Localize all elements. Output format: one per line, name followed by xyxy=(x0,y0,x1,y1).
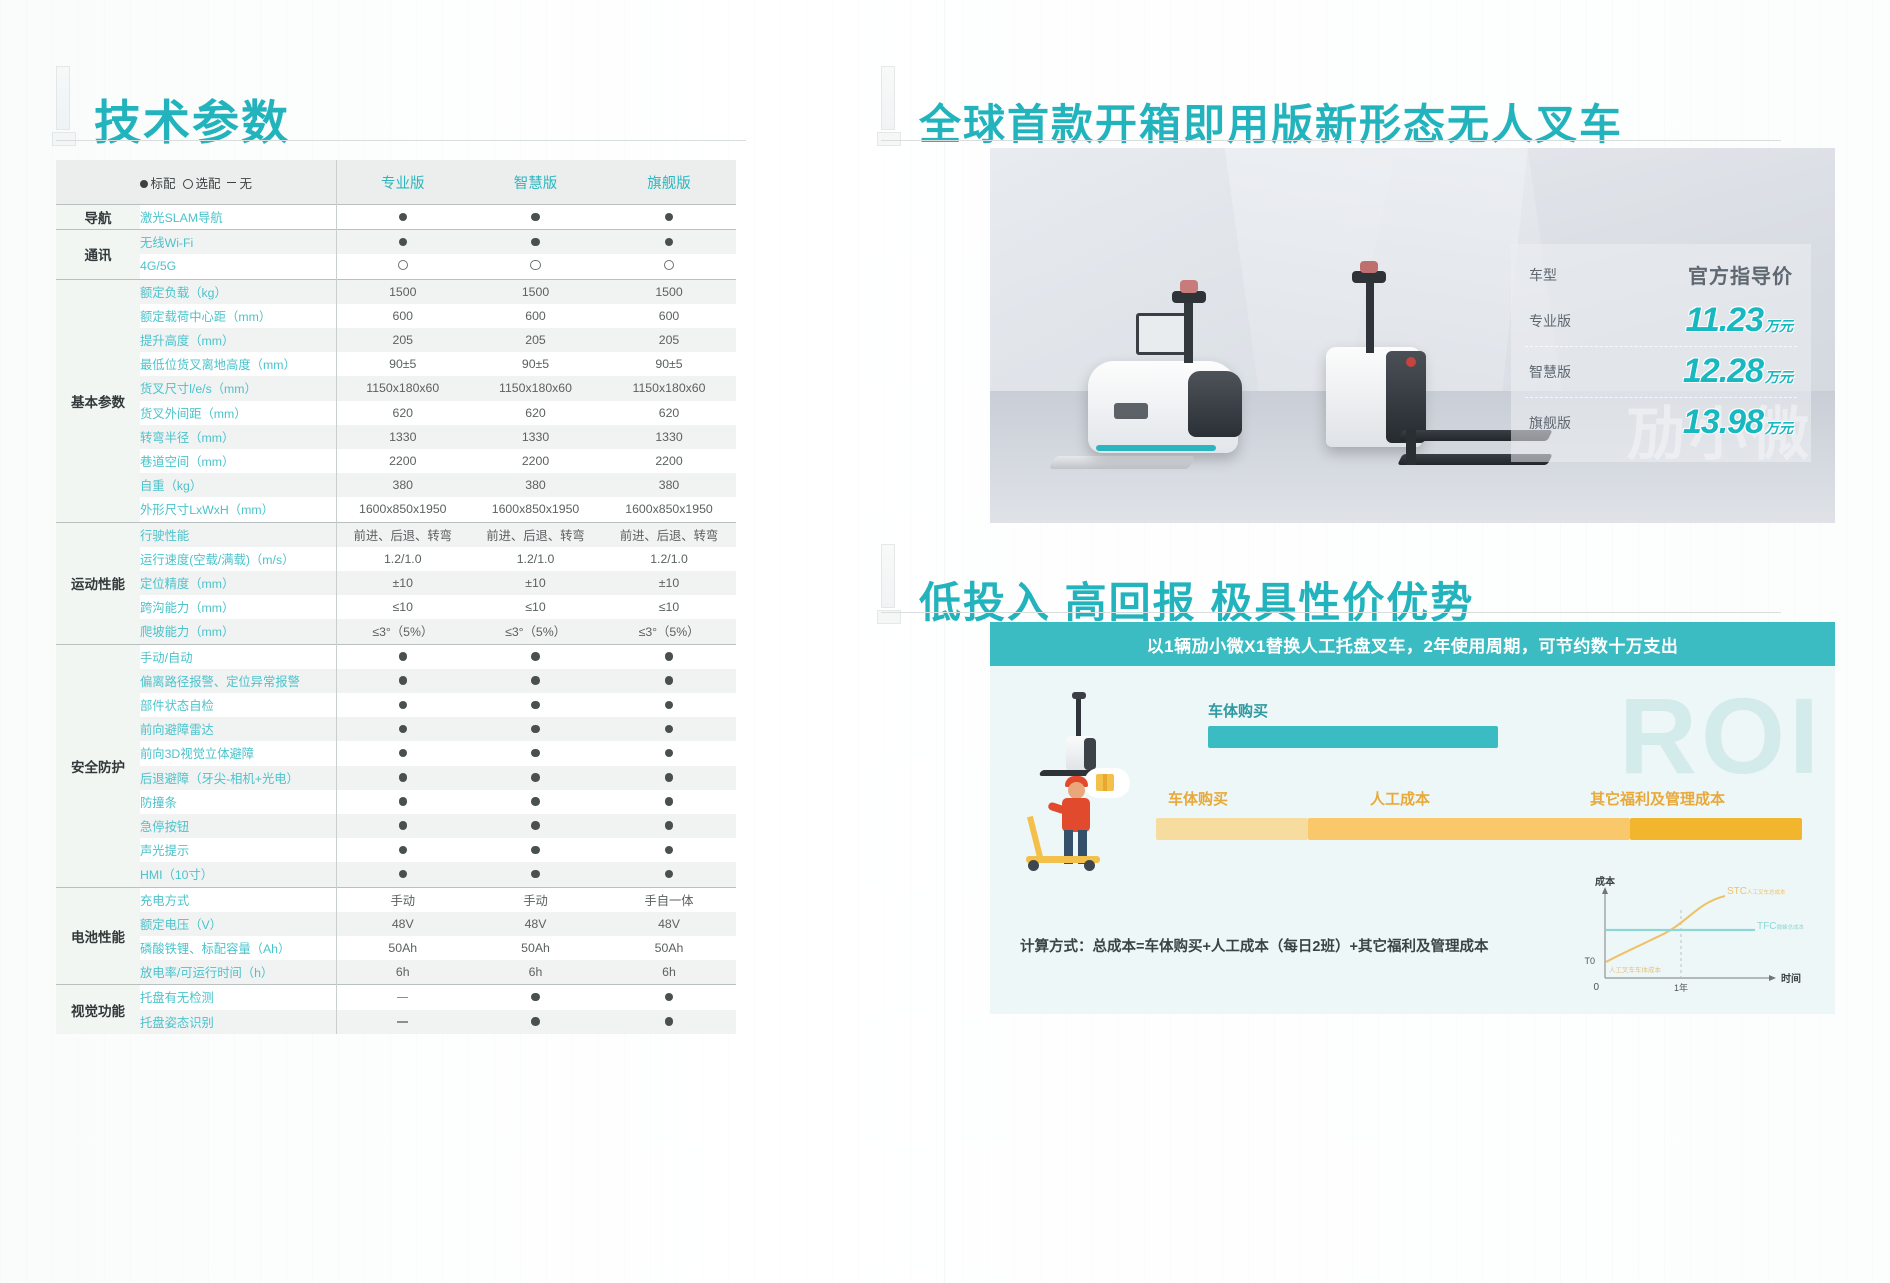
robot-mast xyxy=(1184,293,1193,363)
spec-label: 前向3D视觉立体避障 xyxy=(140,741,336,765)
spec-label: 货叉外间距（mm） xyxy=(140,401,336,425)
spec-value: 手动 xyxy=(336,887,469,912)
title-rule xyxy=(56,140,746,141)
spec-label: 手动/自动 xyxy=(140,644,336,669)
robot-cost-bar xyxy=(1208,726,1498,748)
spec-value: ≤3°（5%） xyxy=(602,619,736,644)
spec-value: ±10 xyxy=(469,571,602,595)
fork-crossbar xyxy=(1406,429,1416,465)
spec-value: 6h xyxy=(602,960,736,985)
table-row: 自重（kg）380380380 xyxy=(56,473,736,497)
robot-logo xyxy=(1114,403,1148,419)
spec-value: 1500 xyxy=(602,279,736,304)
table-row: 磷酸铁锂、标配容量（Ah）50Ah50Ah50Ah xyxy=(56,936,736,960)
spec-mark-standard xyxy=(469,1010,602,1034)
robot-mast xyxy=(1366,271,1374,353)
column-header-1: 专业版 xyxy=(336,160,469,205)
spec-value: 6h xyxy=(469,960,602,985)
spec-value: 1.2/1.0 xyxy=(602,547,736,571)
table-row: 视觉功能托盘有无检测 xyxy=(56,985,736,1010)
table-row: 外形尺寸LxWxH（mm）1600x850x19501600x850x19501… xyxy=(56,497,736,522)
spec-mark-standard xyxy=(336,669,469,693)
spec-value: 1.2/1.0 xyxy=(469,547,602,571)
table-row: 爬坡能力（mm）≤3°（5%）≤3°（5%）≤3°（5%） xyxy=(56,619,736,644)
forklift-deco-icon xyxy=(50,62,76,146)
spec-value: 1150x180x60 xyxy=(336,376,469,400)
price-amount: 11.23万元 xyxy=(1685,301,1793,340)
chart-y-axis-label: 成本 xyxy=(1595,875,1616,888)
spec-value: 1600x850x1950 xyxy=(336,497,469,522)
column-header-3: 旗舰版 xyxy=(602,160,736,205)
brochure-page: 技术参数 标配 选配 无专业版智慧版旗舰版导航激光SLAM导航通讯无线Wi-Fi… xyxy=(0,0,1890,1283)
spec-value: 90±5 xyxy=(336,352,469,376)
price-number: 12.28 xyxy=(1683,352,1763,390)
table-row: 跨沟能力（mm）≤10≤10≤10 xyxy=(56,595,736,619)
spec-label: 声光提示 xyxy=(140,838,336,862)
spec-label: 急停按钮 xyxy=(140,814,336,838)
table-row: 通讯无线Wi-Fi xyxy=(56,230,736,255)
spec-value: 1600x850x1950 xyxy=(602,497,736,522)
spec-mark-standard xyxy=(602,838,736,862)
chart-series-tfc-label: TFC微蜂总成本 xyxy=(1757,921,1804,932)
spec-label: 防撞条 xyxy=(140,790,336,814)
spec-value: 600 xyxy=(469,304,602,328)
spec-mark-standard xyxy=(602,230,736,255)
spec-label: 货叉尺寸l/e/s（mm） xyxy=(140,376,336,400)
robot-accent-stripe xyxy=(1096,445,1216,451)
legend-cell: 标配 选配 无 xyxy=(56,160,336,205)
table-row: 运动性能行驶性能前进、后退、转弯前进、后退、转弯前进、后退、转弯 xyxy=(56,522,736,547)
group-label-3: 基本参数 xyxy=(56,279,140,522)
roi-rule xyxy=(881,612,1781,613)
robot-beacon-icon xyxy=(1360,261,1378,273)
spec-label: 最低位货叉离地高度（mm） xyxy=(140,352,336,376)
table-row: 部件状态自检 xyxy=(56,693,736,717)
jack-wheel xyxy=(1028,860,1039,871)
table-row: 偏离路径报警、定位异常报警 xyxy=(56,669,736,693)
spec-mark-standard xyxy=(336,741,469,765)
spec-mark-optional xyxy=(469,254,602,279)
spec-value: 2200 xyxy=(469,449,602,473)
table-row: 导航激光SLAM导航 xyxy=(56,205,736,230)
roi-card: 以1辆劢小微X1替换人工托盘叉车，2年使用周期，可节约数十万支出 ROI 车体购… xyxy=(990,622,1835,1014)
spec-value: 1500 xyxy=(336,279,469,304)
spec-value: 90±5 xyxy=(469,352,602,376)
spec-value: 48V xyxy=(469,912,602,936)
spec-value: 50Ah xyxy=(602,936,736,960)
manual-cost-bar-0 xyxy=(1156,818,1308,840)
table-row: 4G/5G xyxy=(56,254,736,279)
spec-label: 巷道空间（mm） xyxy=(140,449,336,473)
jack-wheel xyxy=(1084,860,1095,871)
spec-label: 前向避障雷达 xyxy=(140,717,336,741)
spec-value: 600 xyxy=(602,304,736,328)
spec-value: 1150x180x60 xyxy=(469,376,602,400)
spec-label: 外形尺寸LxWxH（mm） xyxy=(140,497,336,522)
spec-value: 1330 xyxy=(469,425,602,449)
price-model: 智慧版 xyxy=(1529,362,1571,382)
table-row: 运行速度(空载/满载)（m/s）1.2/1.01.2/1.01.2/1.0 xyxy=(56,547,736,571)
spec-mark-none xyxy=(336,985,469,1010)
price-unit: 万元 xyxy=(1765,369,1793,385)
worker-head xyxy=(1068,782,1085,799)
price-amount: 12.28万元 xyxy=(1683,352,1793,391)
spec-label: 运行速度(空载/满载)（m/s） xyxy=(140,547,336,571)
table-row: 定位精度（mm）±10±10±10 xyxy=(56,571,736,595)
spec-value: 1330 xyxy=(336,425,469,449)
spec-mark-standard xyxy=(469,838,602,862)
group-label-7: 视觉功能 xyxy=(56,985,140,1034)
spec-label: 4G/5G xyxy=(140,254,336,279)
spec-value: 前进、后退、转弯 xyxy=(602,522,736,547)
spec-value: 600 xyxy=(336,304,469,328)
manual-bar-label-1: 人工成本 xyxy=(1370,788,1430,809)
table-row: 货叉外间距（mm）620620620 xyxy=(56,401,736,425)
spec-mark-standard xyxy=(602,790,736,814)
group-label-1: 导航 xyxy=(56,205,140,230)
left-panel: 技术参数 标配 选配 无专业版智慧版旗舰版导航激光SLAM导航通讯无线Wi-Fi… xyxy=(0,0,945,1283)
price-model-header: 车型 xyxy=(1529,265,1557,285)
spec-mark-standard xyxy=(469,693,602,717)
spec-value: 手自一体 xyxy=(602,887,736,912)
table-row: 货叉尺寸l/e/s（mm）1150x180x601150x180x601150x… xyxy=(56,376,736,400)
robot-dark-module xyxy=(1188,371,1242,437)
table-row: 电池性能充电方式手动手动手自一体 xyxy=(56,887,736,912)
spec-value: 48V xyxy=(336,912,469,936)
right-panel: 全球首款开箱即用版新形态无人叉车 xyxy=(945,0,1890,1283)
jack-handle xyxy=(1027,816,1043,858)
spec-value: 1600x850x1950 xyxy=(469,497,602,522)
spec-label: 充电方式 xyxy=(140,887,336,912)
robot-beacon-icon xyxy=(1180,280,1198,293)
robot-bar-label: 车体购买 xyxy=(1208,700,1268,721)
robot-indicator-icon xyxy=(1406,357,1416,367)
forklift-deco-icon xyxy=(875,62,901,146)
spec-value: 手动 xyxy=(469,887,602,912)
fork-shape xyxy=(1049,456,1196,469)
spec-value: 1.2/1.0 xyxy=(336,547,469,571)
chart-t0-label: T0 xyxy=(1584,956,1595,966)
table-row: 巷道空间（mm）220022002200 xyxy=(56,449,736,473)
table-row: 前向3D视觉立体避障 xyxy=(56,741,736,765)
spec-mark-standard xyxy=(602,741,736,765)
spec-label: 定位精度（mm） xyxy=(140,571,336,595)
spec-mark-standard xyxy=(336,790,469,814)
spec-value: 205 xyxy=(336,328,469,352)
spec-mark-standard xyxy=(602,766,736,790)
spec-value: 620 xyxy=(469,401,602,425)
spec-mark-standard xyxy=(336,814,469,838)
spec-label: 提升高度（mm） xyxy=(140,328,336,352)
price-row-1: 专业版11.23万元 xyxy=(1511,295,1811,346)
table-row: 急停按钮 xyxy=(56,814,736,838)
calculation-formula: 计算方式：总成本=车体购买+人工成本（每日2班）+其它福利及管理成本 xyxy=(1020,935,1488,956)
spec-mark-standard xyxy=(602,1010,736,1034)
spec-mark-standard xyxy=(602,644,736,669)
hero-rule xyxy=(881,140,1781,141)
spec-mark-standard xyxy=(602,814,736,838)
spec-label: 额定负载（kg） xyxy=(140,279,336,304)
spec-mark-standard xyxy=(336,717,469,741)
spec-mark-standard xyxy=(469,741,602,765)
robot-hmi-screen xyxy=(1136,313,1188,355)
column-header-2: 智慧版 xyxy=(469,160,602,205)
worker-illustration xyxy=(1030,770,1150,880)
price-model: 专业版 xyxy=(1529,311,1571,331)
price-card: 车型 官方指导价 专业版11.23万元智慧版12.28万元旗舰版13.98万元 xyxy=(1511,244,1811,462)
table-row: 基本参数额定负载（kg）150015001500 xyxy=(56,279,736,304)
spec-mark-standard xyxy=(336,693,469,717)
spec-value: 1500 xyxy=(469,279,602,304)
group-label-5: 安全防护 xyxy=(56,644,140,887)
spec-mark-standard xyxy=(336,838,469,862)
spec-mark-optional xyxy=(336,254,469,279)
spec-value: 50Ah xyxy=(469,936,602,960)
spec-label: 自重（kg） xyxy=(140,473,336,497)
spec-value: 205 xyxy=(469,328,602,352)
table-row: 最低位货叉离地高度（mm）90±590±590±5 xyxy=(56,352,736,376)
table-row: 额定载荷中心距（mm）600600600 xyxy=(56,304,736,328)
spec-label: 部件状态自检 xyxy=(140,693,336,717)
hero-product-photo: 劢小微 车型 官方指导价 专业版11.23万元智慧版12.28万元旗舰版13.9… xyxy=(990,148,1835,523)
robot-amr-illustration xyxy=(1080,281,1270,481)
table-row: 防撞条 xyxy=(56,790,736,814)
spec-mark-standard xyxy=(469,862,602,887)
spec-value: 2200 xyxy=(336,449,469,473)
chart-origin-label: 0 xyxy=(1593,982,1599,993)
chart-annotation: 人工叉车车体成本 xyxy=(1609,965,1662,974)
spec-label: 行驶性能 xyxy=(140,522,336,547)
spec-label: 激光SLAM导航 xyxy=(140,205,336,230)
table-row: 前向避障雷达 xyxy=(56,717,736,741)
table-row: 放电率/可运行时间（h）6h6h6h xyxy=(56,960,736,985)
spec-value: ≤10 xyxy=(336,595,469,619)
price-unit: 万元 xyxy=(1765,318,1793,334)
spec-mark-standard xyxy=(336,205,469,230)
price-row-3: 旗舰版13.98万元 xyxy=(1511,397,1811,448)
spec-mark-standard xyxy=(469,985,602,1010)
spec-label: 磷酸铁锂、标配容量（Ah） xyxy=(140,936,336,960)
spec-mark-standard xyxy=(602,717,736,741)
legend-filled-icon xyxy=(140,180,148,188)
spec-label: 托盘有无检测 xyxy=(140,985,336,1010)
spec-label: 偏离路径报警、定位异常报警 xyxy=(140,669,336,693)
roi-title: 低投入 高回报 极具性价优势 xyxy=(919,582,1474,624)
manual-bar-label-0: 车体购买 xyxy=(1168,788,1228,809)
spec-mark-standard xyxy=(469,717,602,741)
spec-mark-standard xyxy=(336,862,469,887)
package-icon xyxy=(1096,774,1114,791)
spec-value: 90±5 xyxy=(602,352,736,376)
spec-value: 1150x180x60 xyxy=(602,376,736,400)
spec-mark-standard xyxy=(336,766,469,790)
cost-over-time-chart: 成本 时间 T0 0 1年 STC人工叉车总成本 TFC微蜂总成本 人工叉车车体… xyxy=(1559,874,1811,1000)
price-amount: 13.98万元 xyxy=(1683,403,1793,442)
price-number: 13.98 xyxy=(1683,403,1763,441)
spec-value: 380 xyxy=(469,473,602,497)
legend-ring-icon xyxy=(183,179,193,189)
spec-value: ≤10 xyxy=(469,595,602,619)
spec-mark-standard xyxy=(469,669,602,693)
spec-label: 额定电压（V） xyxy=(140,912,336,936)
spec-value: ±10 xyxy=(336,571,469,595)
spec-value: 620 xyxy=(602,401,736,425)
spec-mark-standard xyxy=(336,644,469,669)
chart-x-axis-label: 时间 xyxy=(1781,972,1801,985)
roi-watermark: ROI xyxy=(1619,682,1823,790)
group-label-4: 运动性能 xyxy=(56,522,140,644)
spec-mark-standard xyxy=(602,205,736,230)
manual-cost-bar-1 xyxy=(1308,818,1630,840)
spec-label: 额定载荷中心距（mm） xyxy=(140,304,336,328)
price-header-row: 车型 官方指导价 xyxy=(1511,254,1811,295)
spec-mark-optional xyxy=(602,254,736,279)
spec-label: HMI（10寸） xyxy=(140,862,336,887)
table-row: 转弯半径（mm）133013301330 xyxy=(56,425,736,449)
table-row: HMI（10寸） xyxy=(56,862,736,887)
price-number: 11.23 xyxy=(1685,301,1763,339)
table-row: 提升高度（mm）205205205 xyxy=(56,328,736,352)
spec-mark-standard xyxy=(469,790,602,814)
spec-mark-standard xyxy=(602,985,736,1010)
spec-mark-standard xyxy=(469,205,602,230)
spec-mark-standard xyxy=(602,862,736,887)
spec-value: 前进、后退、转弯 xyxy=(469,522,602,547)
spec-value: 620 xyxy=(336,401,469,425)
price-value-header: 官方指导价 xyxy=(1688,260,1793,289)
hero-header: 全球首款开箱即用版新形态无人叉车 xyxy=(875,62,1623,146)
spec-table: 标配 选配 无专业版智慧版旗舰版导航激光SLAM导航通讯无线Wi-Fi4G/5G… xyxy=(56,160,736,1034)
pallet-jack-icon xyxy=(1026,822,1096,868)
spec-mark-standard xyxy=(602,693,736,717)
spec-value: 2200 xyxy=(602,449,736,473)
spec-value: ≤10 xyxy=(602,595,736,619)
table-row: 安全防护手动/自动 xyxy=(56,644,736,669)
spec-label: 放电率/可运行时间（h） xyxy=(140,960,336,985)
chart-tick-label: 1年 xyxy=(1674,982,1688,993)
spec-value: ≤3°（5%） xyxy=(336,619,469,644)
spec-mark-none xyxy=(336,1010,469,1034)
spec-label: 后退避障（牙尖-相机+光电） xyxy=(140,766,336,790)
manual-cost-bar-2 xyxy=(1630,818,1802,840)
table-row: 托盘姿态识别 xyxy=(56,1010,736,1034)
spec-mark-standard xyxy=(469,230,602,255)
spec-value: 205 xyxy=(602,328,736,352)
table-header-row: 标配 选配 无专业版智慧版旗舰版 xyxy=(56,160,736,205)
spec-mark-standard xyxy=(469,814,602,838)
spec-label: 跨沟能力（mm） xyxy=(140,595,336,619)
spec-value: 前进、后退、转弯 xyxy=(336,522,469,547)
spec-value: 48V xyxy=(602,912,736,936)
tech-spec-header: 技术参数 xyxy=(50,62,290,146)
spec-mark-standard xyxy=(336,230,469,255)
spec-value: 380 xyxy=(336,473,469,497)
manual-bar-label-2: 其它福利及管理成本 xyxy=(1590,788,1725,809)
spec-mark-standard xyxy=(602,669,736,693)
price-row-2: 智慧版12.28万元 xyxy=(1511,346,1811,397)
spec-label: 爬坡能力（mm） xyxy=(140,619,336,644)
price-model: 旗舰版 xyxy=(1529,413,1571,433)
table-row: 后退避障（牙尖-相机+光电） xyxy=(56,766,736,790)
table-row: 声光提示 xyxy=(56,838,736,862)
page-title: 技术参数 xyxy=(94,99,290,146)
chart-svg: 成本 时间 T0 0 1年 STC人工叉车总成本 TFC微蜂总成本 人工叉车车体… xyxy=(1559,874,1811,1000)
spec-label: 无线Wi-Fi xyxy=(140,230,336,255)
spec-value: ±10 xyxy=(602,571,736,595)
spec-value: 380 xyxy=(602,473,736,497)
spec-value: 50Ah xyxy=(336,936,469,960)
spec-value: ≤3°（5%） xyxy=(469,619,602,644)
price-unit: 万元 xyxy=(1765,420,1793,436)
spec-mark-standard xyxy=(469,766,602,790)
spec-mark-standard xyxy=(469,644,602,669)
group-label-2: 通讯 xyxy=(56,230,140,279)
roi-banner: 以1辆劢小微X1替换人工托盘叉车，2年使用周期，可节约数十万支出 xyxy=(990,622,1835,666)
spec-value: 1330 xyxy=(602,425,736,449)
legend-dash-icon xyxy=(227,182,236,183)
table-row: 额定电压（V）48V48V48V xyxy=(56,912,736,936)
spec-value: 6h xyxy=(336,960,469,985)
spec-label: 转弯半径（mm） xyxy=(140,425,336,449)
chart-series-stc-label: STC人工叉车总成本 xyxy=(1727,886,1786,897)
spec-label: 托盘姿态识别 xyxy=(140,1010,336,1034)
group-label-6: 电池性能 xyxy=(56,887,140,985)
